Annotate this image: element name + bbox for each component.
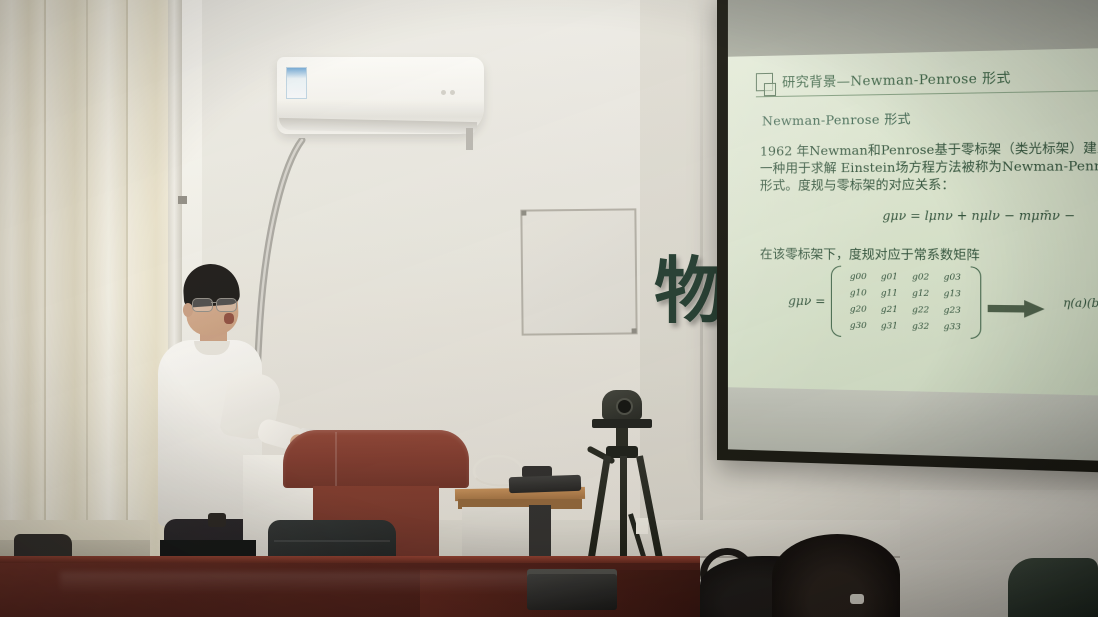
matrix-cell: g11 — [874, 285, 905, 302]
matrix-label: gμν = — [788, 294, 825, 309]
lectern-top — [283, 430, 469, 488]
window-latch — [178, 196, 187, 204]
slide-bullet-square-icon — [756, 73, 776, 96]
matrix-bracket-left — [831, 266, 841, 337]
wall-character-decoration: 物 — [653, 254, 727, 332]
camera-tripod — [580, 390, 670, 570]
tripod-tag — [636, 518, 648, 534]
matrix-cell: g33 — [936, 319, 968, 336]
equipment-box — [527, 574, 617, 610]
screen-bottom-band — [728, 387, 1098, 461]
slide-subtitle: Newman-Penrose 形式 — [762, 108, 911, 129]
slide-matrix-intro: 在该零标架下，度规对应于常系数矩阵 — [760, 243, 980, 263]
matrix-cell: g13 — [936, 286, 968, 303]
conference-table-edge — [0, 556, 700, 563]
matrix-cell: g23 — [936, 302, 968, 319]
arrow-right-icon — [988, 300, 1046, 318]
tripod-leg — [620, 456, 627, 568]
matrix-cell: g12 — [905, 286, 936, 303]
matrix-cell: g32 — [905, 318, 936, 335]
curtain-fold — [44, 0, 46, 585]
slide-title: 研究背景—Newman-Penrose 形式 — [782, 67, 1011, 91]
cable-bundle — [529, 505, 551, 563]
matrix-cell: g10 — [843, 285, 874, 302]
presenter-belt — [208, 513, 226, 527]
table-reflection — [60, 572, 580, 594]
matrix-grid: g00 g01 g02 g03 g10 g11 g12 g13 g20 g21 … — [841, 266, 970, 339]
desk-device — [509, 475, 582, 494]
wall-far-right — [900, 490, 1098, 560]
matrix-cell: g01 — [874, 269, 905, 286]
camera-lens-icon — [616, 398, 633, 415]
screen-surface: 研究背景—Newman-Penrose 形式 Newman-Penrose 形式… — [728, 0, 1098, 461]
slide-matrix: gμν = g00 g01 g02 g03 g10 g11 g12 g13 g2… — [788, 265, 981, 339]
matrix-cell: g20 — [843, 301, 874, 318]
glasses-icon — [192, 298, 240, 311]
matrix-cell: g31 — [874, 318, 905, 335]
matrix-bracket-right — [970, 266, 981, 339]
matrix-cell: g02 — [905, 269, 936, 286]
chair-right — [1008, 558, 1098, 617]
audience-member — [772, 534, 900, 617]
matrix-cell: g22 — [905, 302, 936, 319]
camera-mount-plate — [592, 419, 652, 428]
matrix-cell: g00 — [843, 269, 874, 286]
matrix-cell: g03 — [936, 269, 968, 286]
slide-paragraph: 1962 年Newman和Penrose基于零标架（类光标架）建立了一种用于求解… — [760, 138, 1098, 193]
tripod-leg — [587, 455, 611, 567]
air-conditioner-label — [286, 67, 307, 99]
slide-eta-equation: η(a)(b) = η — [1063, 296, 1098, 310]
presenter-mouth — [224, 313, 234, 324]
lectern-seam — [335, 432, 337, 488]
air-conditioner-indicator-icon — [441, 82, 463, 87]
matrix-cell: g30 — [843, 318, 874, 335]
lecture-room-photo: 物 研究背景—Newman-Penrose 形式 Newman-Penrose … — [0, 0, 1098, 617]
hair-clip — [850, 594, 864, 604]
wall-whiteboard-frame — [520, 208, 637, 335]
curtain-fold — [86, 0, 88, 585]
projected-slide: 研究背景—Newman-Penrose 形式 Newman-Penrose 形式… — [728, 48, 1098, 396]
screen-top-band — [728, 0, 1098, 57]
curtain-fold — [126, 0, 128, 585]
matrix-cell: g21 — [874, 302, 905, 319]
air-conditioner-bracket — [466, 128, 473, 150]
slide-metric-equation: gμν = lμnν + nμlν − mμm̄ν − — [882, 208, 1075, 223]
projection-screen: 研究背景—Newman-Penrose 形式 Newman-Penrose 形式… — [717, 0, 1098, 473]
